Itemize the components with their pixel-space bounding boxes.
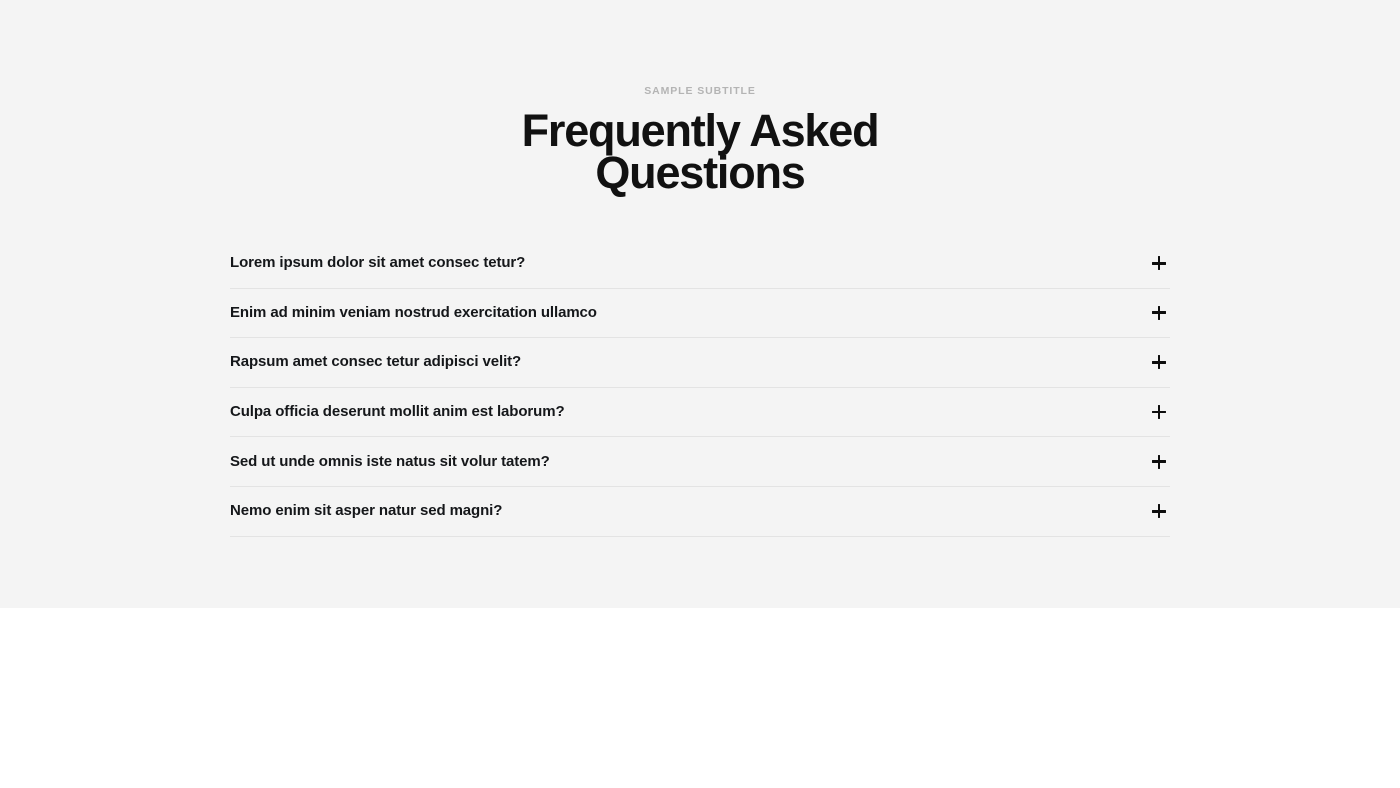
plus-icon[interactable] xyxy=(1149,501,1169,521)
faq-item-4[interactable]: Culpa officia deserunt mollit anim est l… xyxy=(230,388,1170,438)
page-background-below-section xyxy=(0,608,1400,788)
plus-icon[interactable] xyxy=(1149,253,1169,273)
page-title: Frequently Asked Questions xyxy=(460,110,940,194)
plus-icon[interactable] xyxy=(1149,402,1169,422)
faq-item-6[interactable]: Nemo enim sit asper natur sed magni? xyxy=(230,487,1170,537)
faq-accordion-list: Lorem ipsum dolor sit amet consec tetur?… xyxy=(230,239,1170,537)
faq-question-label: Rapsum amet consec tetur adipisci velit? xyxy=(230,352,521,372)
plus-icon[interactable] xyxy=(1149,452,1169,472)
faq-item-2[interactable]: Enim ad minim veniam nostrud exercitatio… xyxy=(230,289,1170,339)
faq-item-1[interactable]: Lorem ipsum dolor sit amet consec tetur? xyxy=(230,239,1170,289)
faq-question-label: Enim ad minim veniam nostrud exercitatio… xyxy=(230,303,597,323)
faq-item-3[interactable]: Rapsum amet consec tetur adipisci velit? xyxy=(230,338,1170,388)
plus-icon[interactable] xyxy=(1149,352,1169,372)
faq-question-label: Lorem ipsum dolor sit amet consec tetur? xyxy=(230,253,525,273)
plus-icon[interactable] xyxy=(1149,303,1169,323)
faq-section: SAMPLE SUBTITLE Frequently Asked Questio… xyxy=(0,0,1400,608)
faq-question-label: Culpa officia deserunt mollit anim est l… xyxy=(230,402,565,422)
faq-question-label: Nemo enim sit asper natur sed magni? xyxy=(230,501,502,521)
section-subtitle: SAMPLE SUBTITLE xyxy=(644,84,756,98)
page-title-line-2: Questions xyxy=(595,147,804,198)
faq-question-label: Sed ut unde omnis iste natus sit volur t… xyxy=(230,452,550,472)
faq-item-5[interactable]: Sed ut unde omnis iste natus sit volur t… xyxy=(230,437,1170,487)
